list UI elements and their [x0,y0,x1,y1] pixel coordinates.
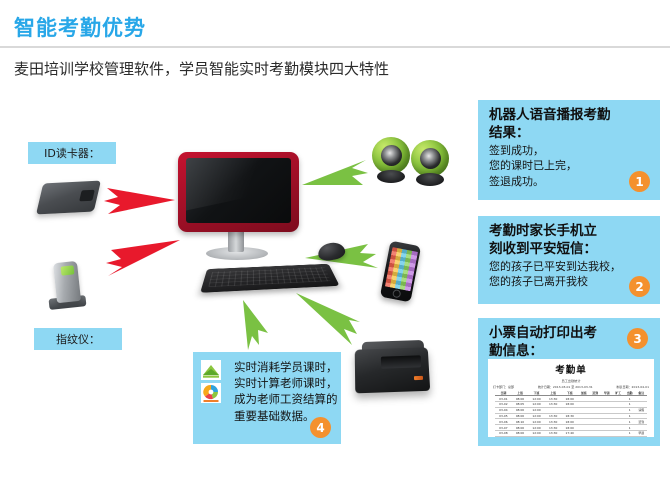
speaker-right [411,140,449,187]
callout-1-heading-line1: 机器人语音播报考勤 [489,107,651,125]
receipt-cell: 18:00 [561,436,578,437]
monitor-neck [228,230,244,252]
attendance-receipt-image: 考勤单 员工出勤统计 打卡部门：总部 统计日期：2013-03-01 至 201… [488,359,654,437]
receipt-cell: 03-11 [495,436,512,437]
callout-1-body-line2: 您的课时已上完， [489,159,651,174]
callout-3-badge: 3 [627,328,648,349]
callout-1-body-line1: 签到成功， [489,144,651,159]
callout-1-badge: 1 [629,171,650,192]
speaker-stand [377,170,405,183]
receipt-title: 考勤单 [488,362,654,376]
receipt-row: 03-1108:0012:0013:3018:001 [495,436,647,437]
receipt-cell [635,436,647,437]
arrow-pc-to-printer [296,293,360,345]
smartphone-screen [384,247,417,291]
smartphone-home-button [392,289,401,298]
arrow-fingerprint-to-pc [106,240,180,276]
callout-1-body-line3: 签退成功。 [489,175,651,190]
receipt-cell: 12:00 [528,436,545,437]
label-text: 指纹仪： [56,331,100,347]
fingerprint-scanner-pad [61,265,75,275]
receipt-table: 日期上班下班上班下班加班迟到早退旷工出勤备注 03-0108:0012:0013… [495,391,647,438]
arrow-pc-to-box4 [243,300,268,350]
callout-4-body-line2: 实时计算老师课时， [234,376,332,391]
callout-2-heading-line1: 考勤时家长手机立 [489,223,651,241]
receipt-meta-mid: 统计日期：2013-03-01 至 2013-03-31 [538,385,593,389]
printer-paper-slot [381,355,421,368]
speaker-cone [420,148,441,169]
receipt-cell [578,436,589,437]
receipt-cell [590,436,601,437]
receipt-cell: 08:00 [512,436,529,437]
callout-4-body-line1: 实时消耗学员课时， [234,360,332,375]
receipt-cell: 13:30 [545,436,562,437]
arrow-reader-to-pc [104,188,175,214]
label-id-card-reader: ID读卡器： [28,142,116,164]
receipt-printer-device [355,347,431,393]
arrow-pc-to-speakers [302,160,368,185]
label-text: ID读卡器： [44,145,100,161]
receipt-cell [612,436,623,437]
speaker-left [372,137,410,184]
monitor-screen-glare [186,158,291,223]
pie-chart-icon [201,383,221,403]
receipt-meta-right: 制表日期：2013-04-01 [617,385,649,389]
receipt-cell [601,436,612,437]
area-chart-icon [201,360,221,380]
callout-4-body-line3: 成为老师工资结算的 [234,392,332,407]
callout-4: 实时消耗学员课时， 实时计算老师课时， 成为老师工资结算的 重要基础数据。 4 [193,352,341,444]
slide-canvas: 智能考勤优势 麦田培训学校管理软件，学员智能实时考勤模块四大特性 ID读卡器： [0,0,670,483]
id-card-reader-device [36,181,101,215]
callout-2-body-line2: 您的孩子已离开我校 [489,275,651,290]
printer-status-led [414,376,423,380]
receipt-cell: 1 [624,436,635,437]
speaker-stand [416,173,444,186]
label-fingerprint-scanner: 指纹仪： [34,328,122,350]
receipt-subtitle: 员工出勤统计 [488,378,654,383]
callout-2: 考勤时家长手机立 刻收到平安短信： 您的孩子已平安到达我校， 您的孩子已离开我校… [478,216,660,304]
callout-4-badge: 4 [310,417,331,438]
receipt-meta: 打卡部门：总部 统计日期：2013-03-01 至 2013-03-31 制表日… [493,385,649,389]
speaker-cone [381,145,402,166]
callout-2-badge: 2 [629,276,650,297]
callout-2-body-line1: 您的孩子已平安到达我校， [489,260,651,275]
callout-4-icons [201,360,223,406]
callout-1-heading-line2: 结果： [489,125,651,143]
callout-2-heading-line2: 刻收到平安短信： [489,241,651,259]
keyboard-keys [208,267,331,287]
receipt-meta-left: 打卡部门：总部 [493,385,514,389]
callout-1: 机器人语音播报考勤 结果： 签到成功， 您的课时已上完， 签退成功。 1 [478,100,660,200]
